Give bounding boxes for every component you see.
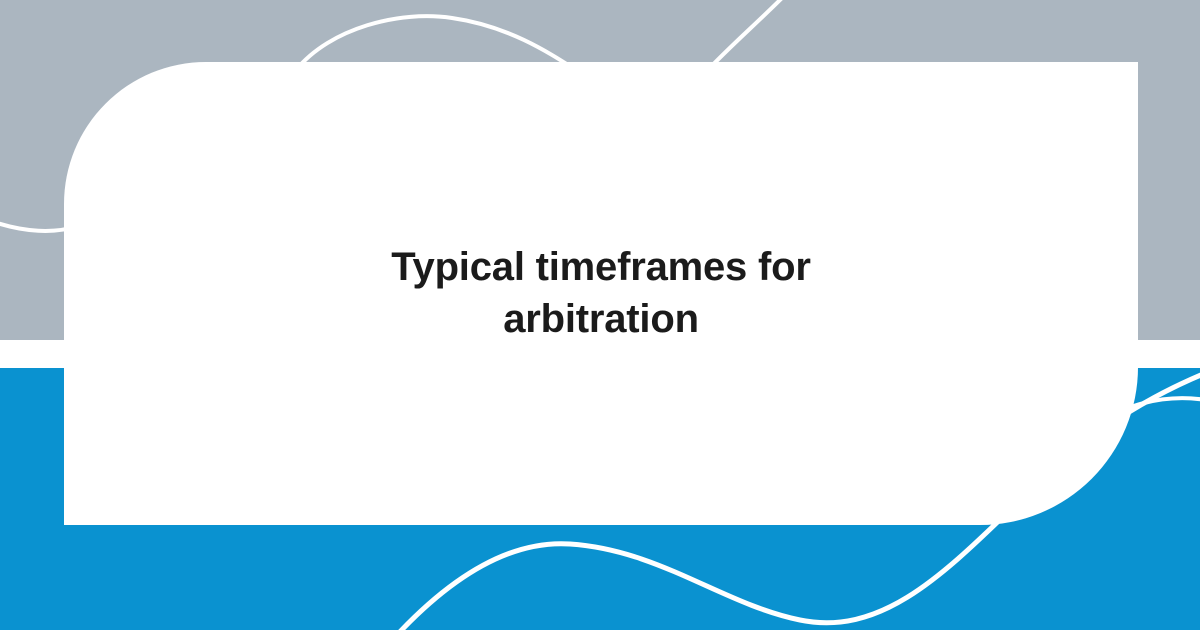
social-card-canvas: Typical timeframes for arbitration [0, 0, 1200, 630]
page-title: Typical timeframes for arbitration [331, 242, 871, 344]
content-card: Typical timeframes for arbitration [64, 62, 1138, 525]
